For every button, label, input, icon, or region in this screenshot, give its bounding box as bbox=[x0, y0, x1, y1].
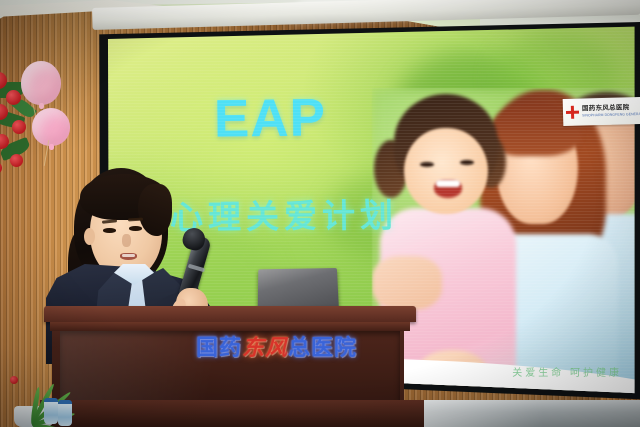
nose bbox=[122, 234, 131, 247]
podium-sign-part2: 东风 bbox=[242, 335, 288, 360]
eye bbox=[129, 226, 142, 231]
podium-hospital-sign: 国药东风总医院 bbox=[196, 330, 357, 362]
hair-sweep bbox=[138, 184, 172, 236]
slide-family-photo bbox=[372, 88, 640, 388]
podium-sign-part3: 总医院 bbox=[288, 335, 357, 360]
podium-base bbox=[40, 400, 424, 427]
red-cross-icon bbox=[566, 106, 579, 119]
podium-sign-part1: 国药 bbox=[196, 335, 242, 360]
pink-balloon bbox=[32, 108, 70, 146]
teeth bbox=[122, 254, 135, 257]
presentation-photo-scene: EAP 工心理关爱计划 关爱生命 呵护健康 国药东风总医院 SINOPHARM … bbox=[0, 0, 640, 427]
slide-tagline: 关爱生命 呵护健康 bbox=[512, 364, 622, 379]
water-bottle bbox=[44, 398, 58, 424]
slide-title: EAP bbox=[214, 87, 327, 149]
hospital-logo-board: 国药东风总医院 SINOPHARM DONGFENG GENERAL HOSPI… bbox=[563, 97, 640, 126]
floor-reflection bbox=[398, 400, 640, 427]
ear bbox=[84, 228, 95, 245]
hospital-name-en: SINOPHARM DONGFENG GENERAL HOSPITAL bbox=[582, 112, 640, 117]
podium-top-surface bbox=[44, 306, 416, 322]
eye bbox=[103, 228, 116, 233]
pink-balloon bbox=[21, 61, 61, 105]
water-bottle bbox=[58, 400, 72, 426]
